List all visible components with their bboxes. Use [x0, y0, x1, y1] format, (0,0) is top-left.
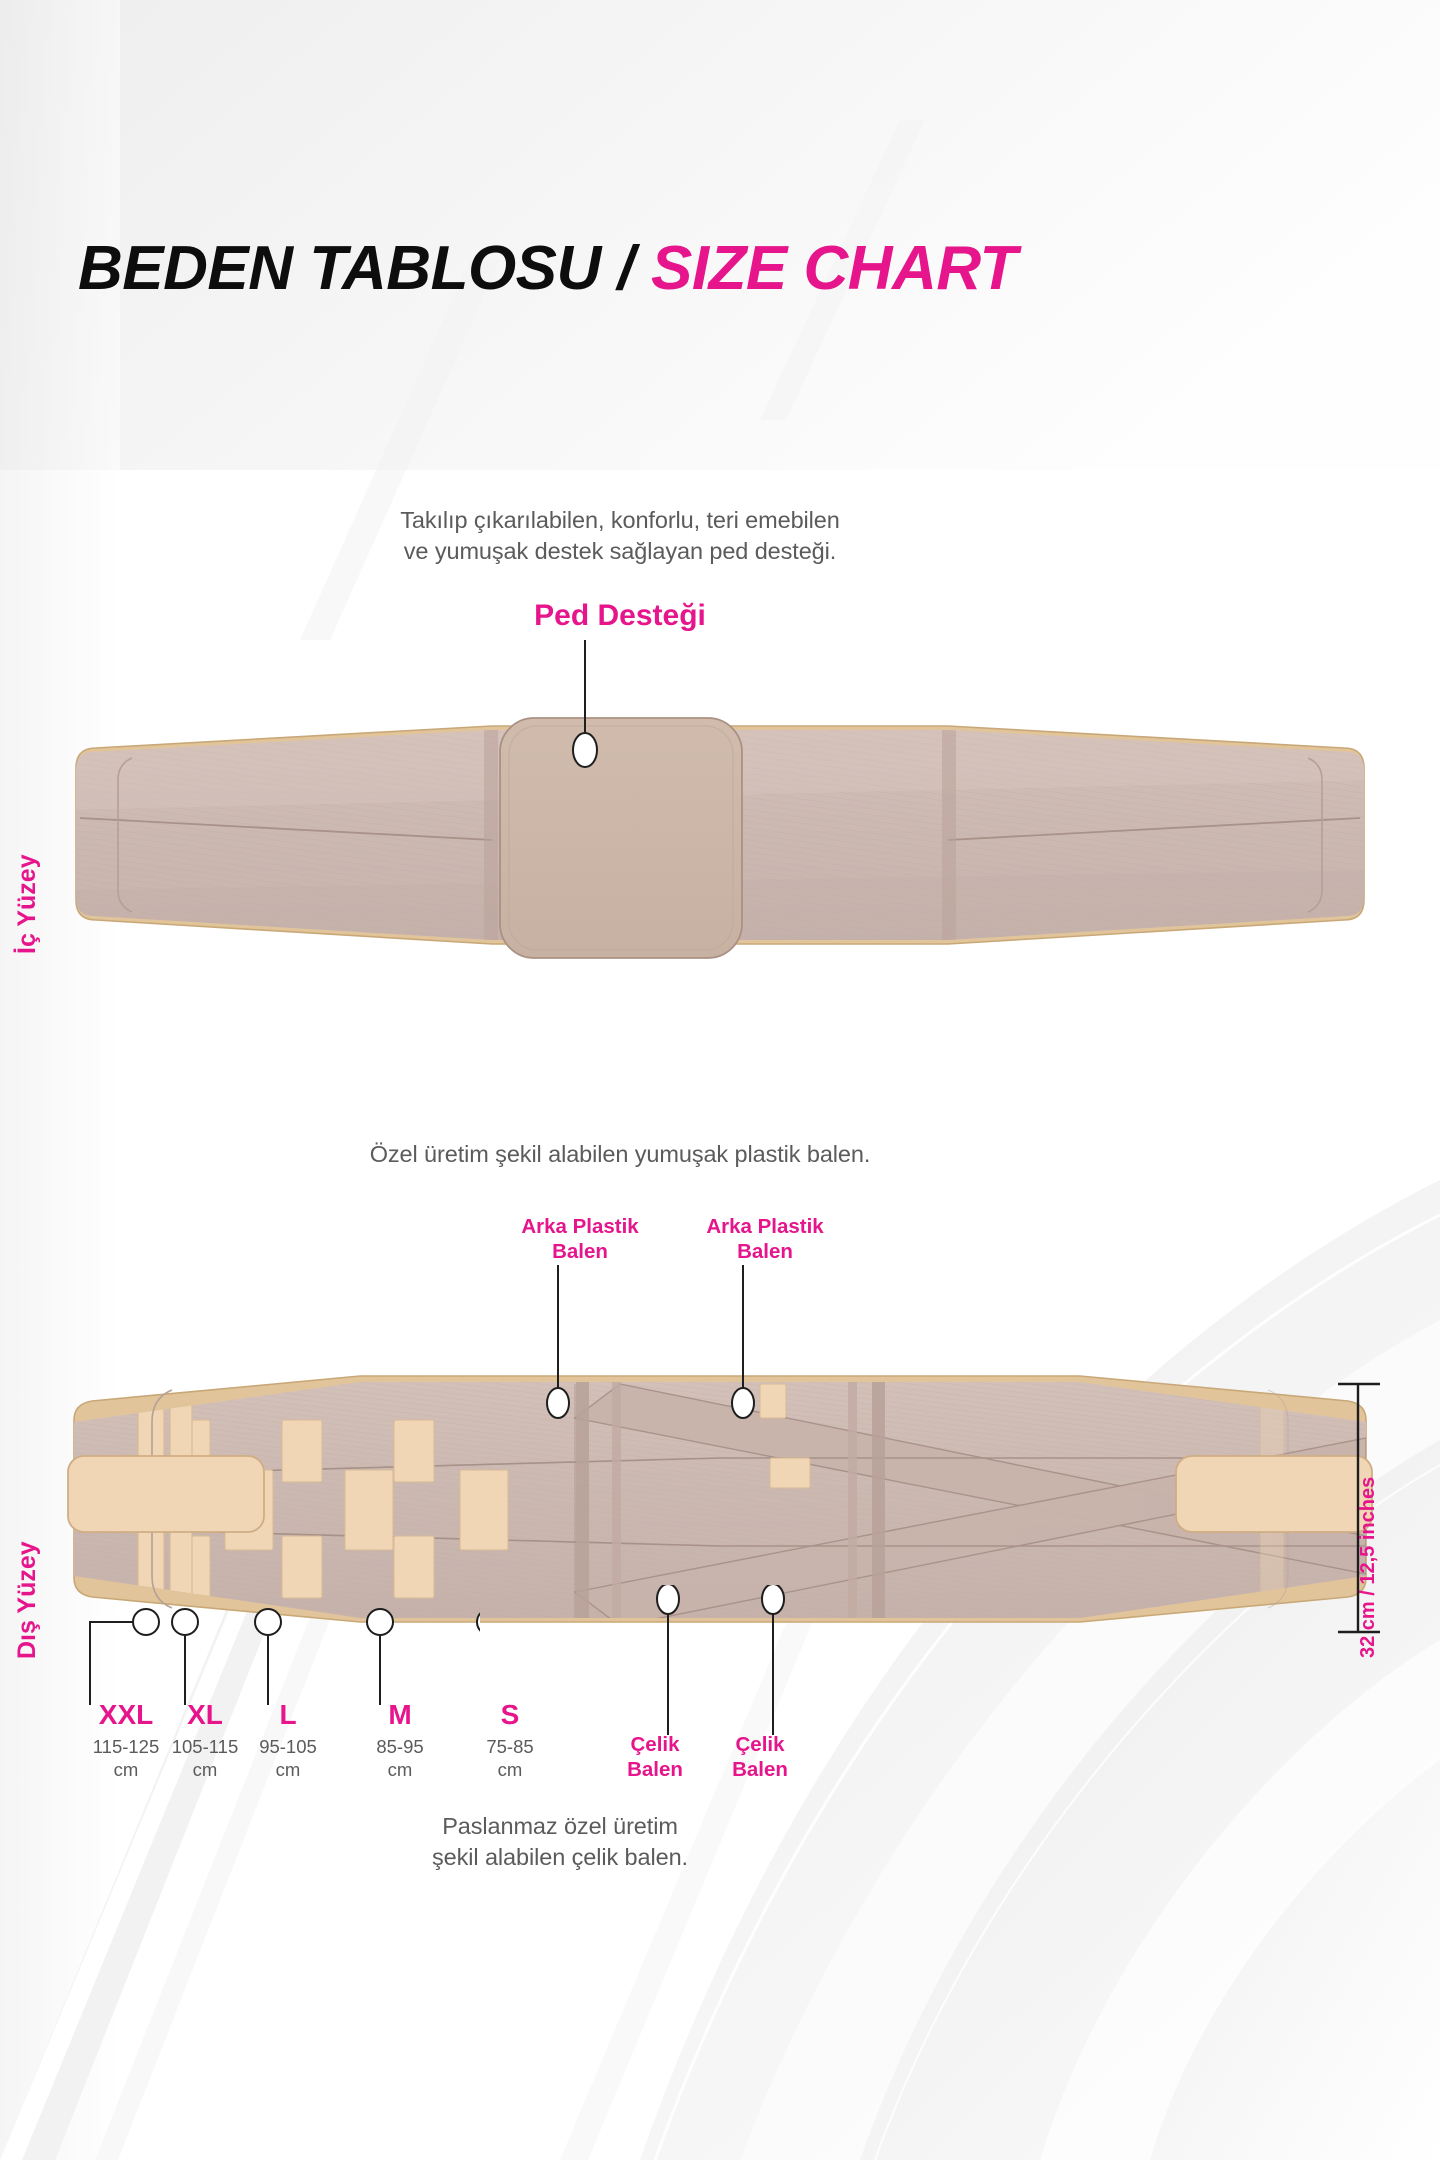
- size-range-s: 75-85: [455, 1735, 565, 1758]
- size-unit-l: cm: [233, 1759, 343, 1780]
- side-label-inner-surface: İç Yüzey: [13, 854, 42, 954]
- steel-description-line2: şekil alabilen çelik balen.: [400, 1842, 720, 1873]
- size-entry-m: M 85-95 cm: [345, 1700, 455, 1780]
- steel-stay-description: Paslanmaz özel üretim şekil alabilen çel…: [400, 1811, 720, 1874]
- plastic-stay-description: Özel üretim şekil alabilen yumuşak plast…: [260, 1139, 980, 1170]
- callout-steel-2-line2: Balen: [680, 1758, 840, 1783]
- callout-steel-2-line1: Çelik: [680, 1733, 840, 1758]
- pad-description: Takılıp çıkarılabilen, konforlu, teri em…: [320, 505, 920, 568]
- size-name-m: M: [345, 1700, 455, 1729]
- page-title-english: SIZE CHART: [651, 234, 1017, 303]
- page-title: BEDEN TABLOSU / SIZE CHART: [78, 238, 1017, 300]
- size-entry-l: L 95-105 cm: [233, 1700, 343, 1780]
- callout-label-ped-destegi: Ped Desteği: [420, 598, 820, 634]
- size-range-l: 95-105: [233, 1735, 343, 1758]
- steel-description-line1: Paslanmaz özel üretim: [400, 1811, 720, 1842]
- leader-lines-size-markers: [60, 1575, 480, 1715]
- size-unit-s: cm: [455, 1759, 565, 1780]
- callout-plastic-2-line1: Arka Plastik: [655, 1215, 875, 1240]
- leader-line-ped-destegi: [540, 640, 660, 780]
- pad-description-line1: Takılıp çıkarılabilen, konforlu, teri em…: [320, 505, 920, 536]
- size-legend: XXL 115-125 cm XL 105-115 cm L 95-105 cm…: [40, 1700, 580, 1820]
- callout-label-celik-balen-right: Çelik Balen: [680, 1733, 840, 1782]
- size-name-l: L: [233, 1700, 343, 1729]
- size-name-s: S: [455, 1700, 565, 1729]
- leader-lines-arka-plastik-balen: [520, 1265, 780, 1425]
- pad-description-line2: ve yumuşak destek sağlayan ped desteği.: [320, 536, 920, 567]
- size-entry-s: S 75-85 cm: [455, 1700, 565, 1780]
- size-range-m: 85-95: [345, 1735, 455, 1758]
- callout-label-arka-plastik-balen-right: Arka Plastik Balen: [655, 1215, 875, 1264]
- callout-plastic-2-line2: Balen: [655, 1240, 875, 1265]
- side-label-outer-surface: Dış Yüzey: [13, 1541, 42, 1659]
- leader-lines-celik-balen: [640, 1585, 840, 1740]
- inner-surface-belt-illustration: [60, 640, 1380, 980]
- height-dimension-label: 32 cm / 12,5 inches: [1357, 1477, 1380, 1658]
- size-unit-m: cm: [345, 1759, 455, 1780]
- page-title-turkish: BEDEN TABLOSU /: [78, 234, 651, 303]
